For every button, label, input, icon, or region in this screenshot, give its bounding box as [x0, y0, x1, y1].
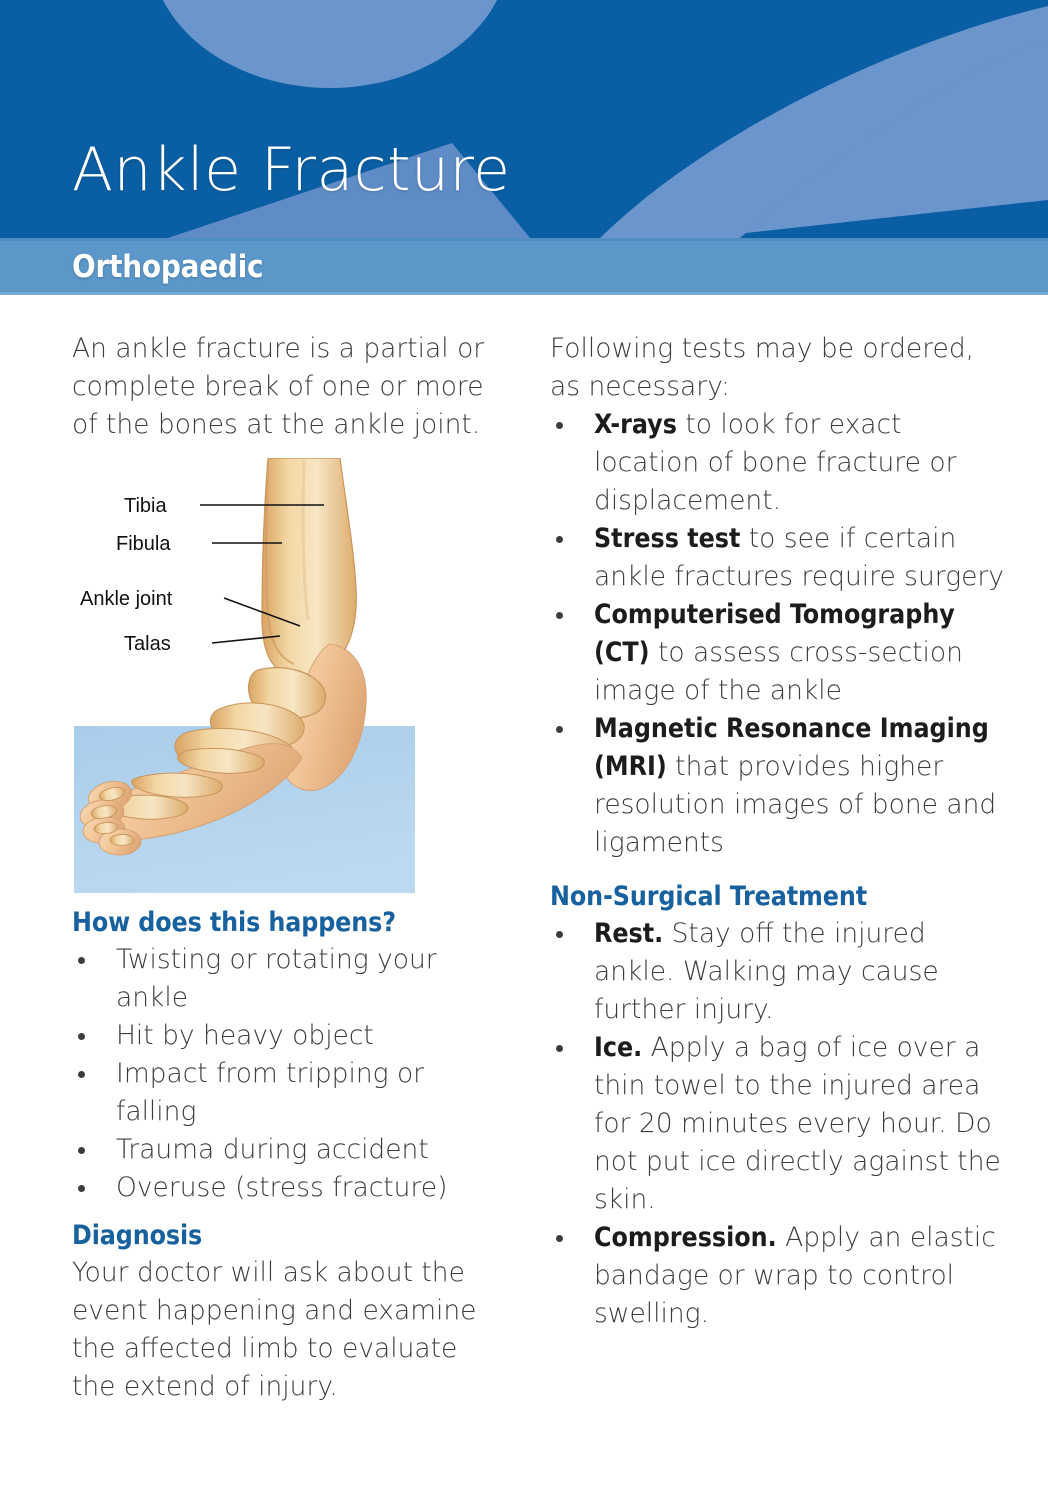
list-item: Magnetic Resonance Imaging (MRI) that pr… [550, 710, 1005, 862]
tests-list: X-rays to look for exact location of bon… [550, 406, 1005, 862]
list-item-text: Impact from tripping or falling [116, 1058, 424, 1127]
list-item-term: Stress test [594, 523, 740, 554]
list-item-text: to assess cross-section image of the ank… [594, 637, 963, 706]
list-item: Rest. Stay off the injured ankle. Walkin… [550, 915, 1005, 1029]
brochure-page: Ankle Fracture Orthopaedic An ankle frac… [0, 0, 1048, 1497]
list-item: Twisting or rotating your ankle [72, 941, 492, 1017]
bullet-dot [556, 1045, 563, 1052]
list-item: Compression. Apply an elastic bandage or… [550, 1219, 1005, 1333]
page-header: Ankle Fracture [0, 0, 1048, 238]
bullet-dot [556, 536, 563, 543]
content-columns: An ankle fracture is a partial or comple… [0, 330, 1048, 1406]
list-item-term: Rest. [594, 918, 663, 949]
bullet-dot [78, 957, 85, 964]
intro-paragraph: An ankle fracture is a partial or comple… [72, 330, 492, 444]
list-item-term: Compression. [594, 1222, 777, 1253]
list-item-text: Overuse (stress fracture) [116, 1172, 447, 1203]
how-heading: How does this happens? [72, 904, 492, 941]
list-item-text: Apply a bag of ice over a thin towel to … [594, 1032, 1001, 1215]
bullet-dot [78, 1071, 85, 1078]
bullet-dot [78, 1147, 85, 1154]
list-item: Impact from tripping or falling [72, 1055, 492, 1131]
list-item: Computerised Tomography (CT) to assess c… [550, 596, 1005, 710]
label-tibia: Tibia [124, 495, 167, 517]
left-column: An ankle fracture is a partial or comple… [72, 330, 492, 1406]
causes-list: Twisting or rotating your ankle Hit by h… [72, 941, 492, 1207]
bullet-dot [556, 612, 563, 619]
page-title: Ankle Fracture [72, 140, 510, 200]
tests-intro-paragraph: Following tests may be ordered, as neces… [550, 330, 1005, 406]
list-item-term: X-rays [594, 409, 677, 440]
list-item: Hit by heavy object [72, 1017, 492, 1055]
list-item: Ice. Apply a bag of ice over a thin towe… [550, 1029, 1005, 1219]
treatment-heading: Non-Surgical Treatment [550, 878, 1005, 915]
anatomy-labels: Tibia Fibula Ankle joint Talas [80, 495, 173, 655]
ankle-anatomy-figure: Tibia Fibula Ankle joint Talas [72, 458, 422, 898]
list-item: Stress test to see if certain ankle frac… [550, 520, 1005, 596]
label-talas: Talas [124, 633, 171, 655]
bullet-dot [556, 1235, 563, 1242]
list-item-text: Hit by heavy object [116, 1020, 374, 1051]
diagnosis-paragraph: Your doctor will ask about the event hap… [72, 1254, 492, 1406]
list-item: Trauma during accident [72, 1131, 492, 1169]
bullet-dot [78, 1033, 85, 1040]
list-item-text: Trauma during accident [116, 1134, 429, 1165]
label-fibula: Fibula [116, 533, 171, 555]
tibia-bone [262, 458, 356, 678]
bullet-dot [556, 726, 563, 733]
list-item-term: Ice. [594, 1032, 642, 1063]
right-column: Following tests may be ordered, as neces… [550, 330, 1005, 1406]
treatment-list: Rest. Stay off the injured ankle. Walkin… [550, 915, 1005, 1333]
bullet-dot [556, 931, 563, 938]
diagnosis-heading: Diagnosis [72, 1217, 492, 1254]
list-item: X-rays to look for exact location of bon… [550, 406, 1005, 520]
ankle-anatomy-illustration: Tibia Fibula Ankle joint Talas [72, 458, 422, 898]
department-label: Orthopaedic [72, 249, 263, 285]
department-band: Orthopaedic [0, 238, 1048, 295]
list-item-text: Twisting or rotating your ankle [116, 944, 437, 1013]
label-ankle-joint: Ankle joint [80, 588, 173, 610]
bullet-dot [556, 422, 563, 429]
list-item: Overuse (stress fracture) [72, 1169, 492, 1207]
bullet-dot [78, 1185, 85, 1192]
